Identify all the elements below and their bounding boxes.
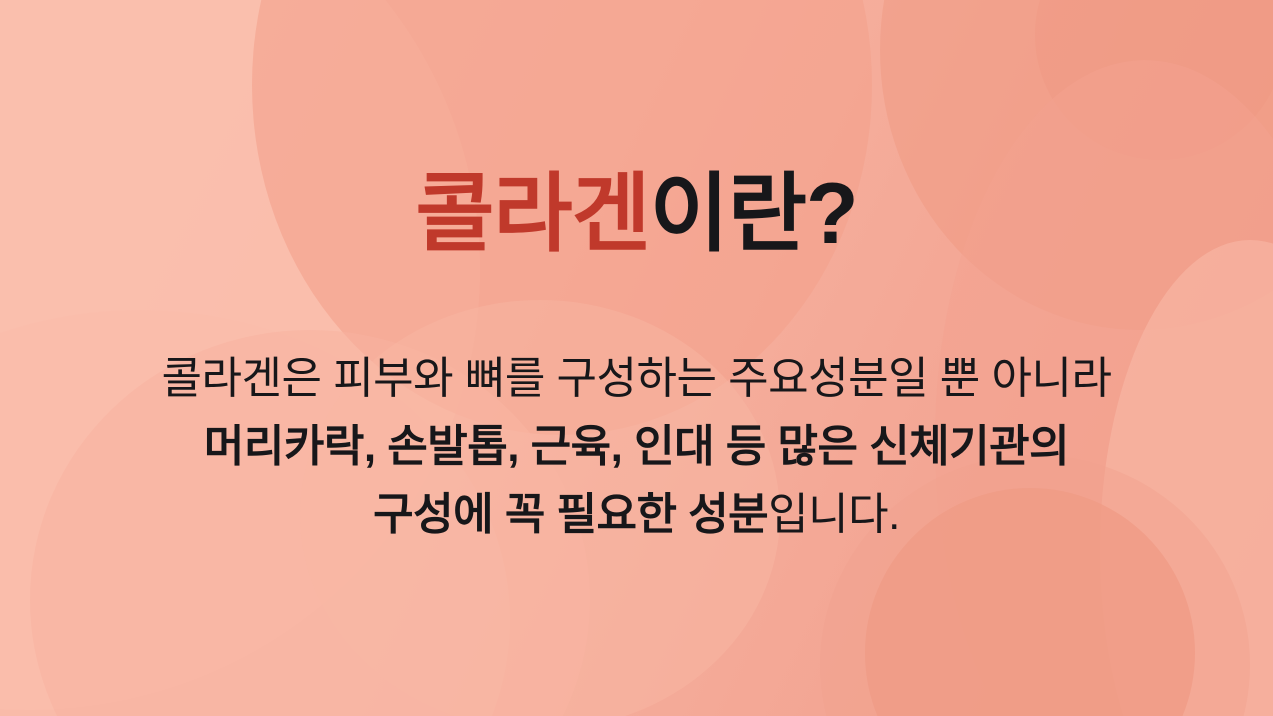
slide-title: 콜라겐이란? bbox=[0, 166, 1273, 262]
body-line-2: 머리카락, 손발톱, 근육, 인대 등 많은 신체기관의 bbox=[0, 413, 1273, 481]
slide-body: 콜라겐은 피부와 뼈를 구성하는 주요성분일 뿐 아니라 머리카락, 손발톱, … bbox=[0, 345, 1273, 549]
body-line-2-segment-1: 머리카락, 손발톱, 근육, 인대 등 많은 신체기관의 bbox=[204, 422, 1069, 471]
slide-title-rest: 이란? bbox=[650, 166, 858, 262]
body-line-1-segment-1: 콜라겐은 피부와 뼈를 구성하는 주요성분일 뿐 아니라 bbox=[162, 354, 1112, 403]
slide-title-accent: 콜라겐 bbox=[415, 166, 649, 262]
presentation-slide: 콜라겐이란? 콜라겐은 피부와 뼈를 구성하는 주요성분일 뿐 아니라 머리카락… bbox=[0, 0, 1273, 716]
body-line-1: 콜라겐은 피부와 뼈를 구성하는 주요성분일 뿐 아니라 bbox=[0, 345, 1273, 413]
slide-content: 콜라겐이란? 콜라겐은 피부와 뼈를 구성하는 주요성분일 뿐 아니라 머리카락… bbox=[0, 0, 1273, 716]
body-line-3-segment-1: 구성에 꼭 필요한 성분 bbox=[373, 490, 768, 539]
body-line-3: 구성에 꼭 필요한 성분입니다. bbox=[0, 481, 1273, 549]
body-line-3-segment-2: 입니다. bbox=[768, 490, 900, 539]
